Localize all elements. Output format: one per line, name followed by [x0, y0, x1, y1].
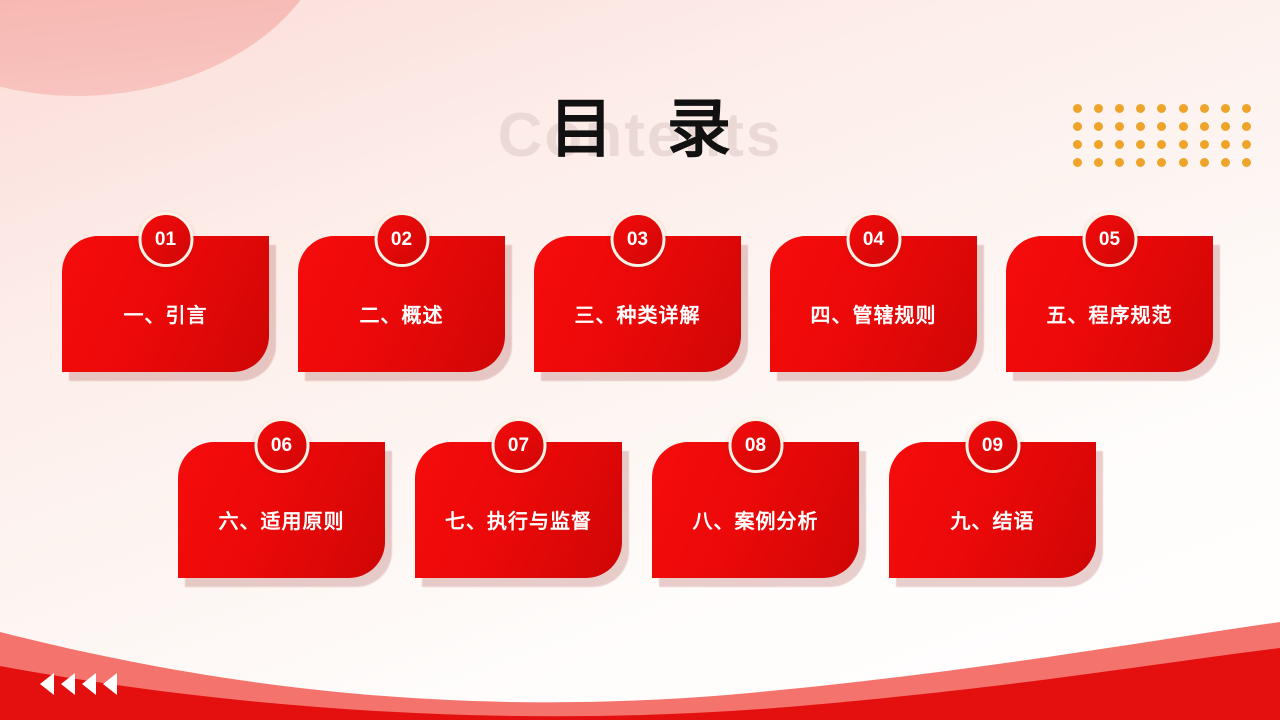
page-title-group: Contents 目 录 — [0, 78, 1280, 170]
content-row-2: 六、适用原则06七、执行与监督07八、案例分析08九、结语09 — [178, 442, 1096, 578]
content-card[interactable]: 六、适用原则06 — [178, 442, 385, 578]
card-label: 四、管辖规则 — [811, 299, 937, 328]
card-number-badge: 05 — [1082, 212, 1137, 267]
card-number-badge: 02 — [374, 212, 429, 267]
card-number-badge: 04 — [846, 212, 901, 267]
content-card[interactable]: 三、种类详解03 — [534, 236, 741, 372]
card-label: 五、程序规范 — [1047, 299, 1173, 328]
card-label: 六、适用原则 — [219, 505, 345, 534]
content-row-1: 一、引言01二、概述02三、种类详解03四、管辖规则04五、程序规范05 — [62, 236, 1213, 372]
bottom-wave-decoration — [0, 570, 1280, 720]
card-label: 八、案例分析 — [693, 505, 819, 534]
card-label: 九、结语 — [951, 505, 1035, 534]
page-title: 目 录 — [0, 78, 1280, 170]
content-card[interactable]: 五、程序规范05 — [1006, 236, 1213, 372]
play-arrow-icon — [40, 673, 54, 695]
card-number-badge: 06 — [254, 418, 309, 473]
content-card[interactable]: 四、管辖规则04 — [770, 236, 977, 372]
content-card[interactable]: 七、执行与监督07 — [415, 442, 622, 578]
card-label: 三、种类详解 — [575, 299, 701, 328]
card-label: 一、引言 — [124, 299, 208, 328]
card-label: 七、执行与监督 — [445, 505, 592, 534]
card-label: 二、概述 — [360, 299, 444, 328]
card-number-badge: 03 — [610, 212, 665, 267]
play-arrow-icon — [103, 673, 117, 695]
content-card[interactable]: 一、引言01 — [62, 236, 269, 372]
arrow-marks-decoration — [40, 673, 117, 695]
play-arrow-icon — [61, 673, 75, 695]
content-card[interactable]: 二、概述02 — [298, 236, 505, 372]
play-arrow-icon — [82, 673, 96, 695]
card-number-badge: 08 — [728, 418, 783, 473]
content-card[interactable]: 八、案例分析08 — [652, 442, 859, 578]
content-card[interactable]: 九、结语09 — [889, 442, 1096, 578]
card-number-badge: 09 — [965, 418, 1020, 473]
card-number-badge: 07 — [491, 418, 546, 473]
card-number-badge: 01 — [138, 212, 193, 267]
